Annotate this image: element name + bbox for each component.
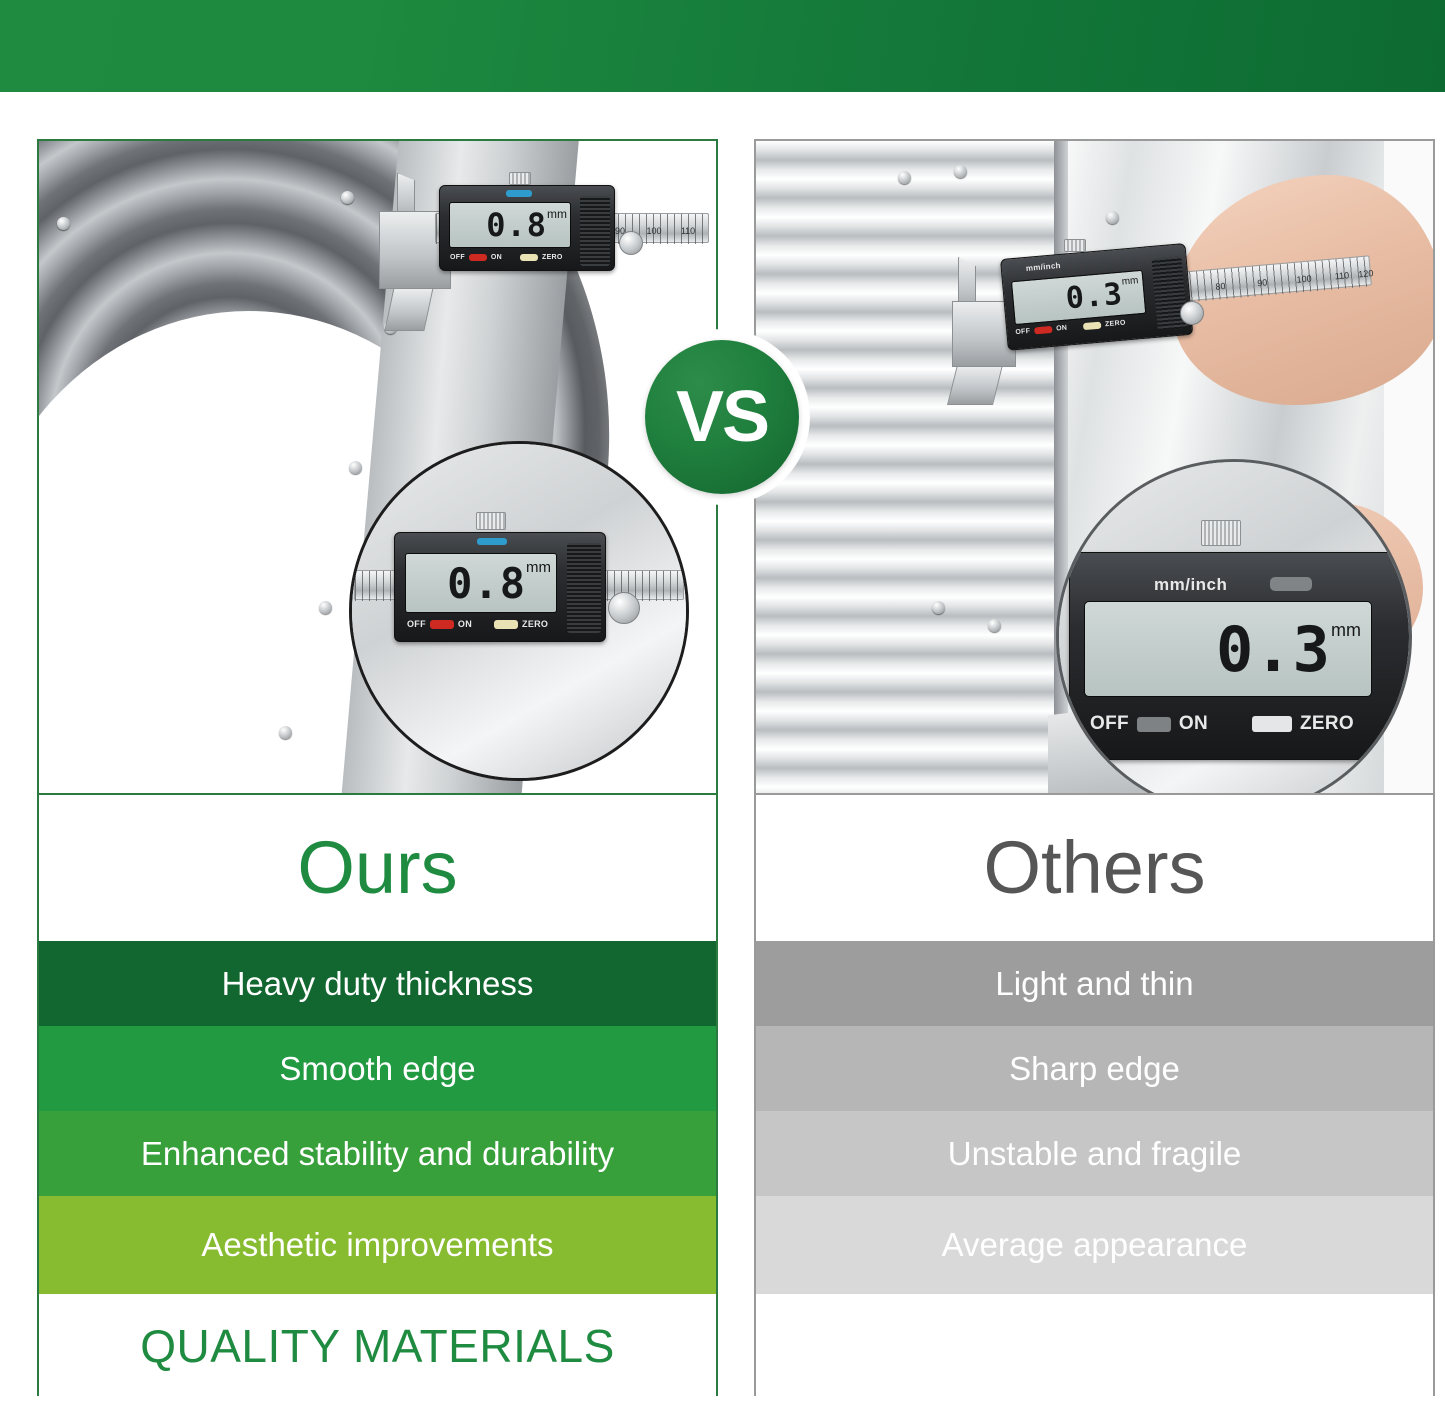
- inset-mode-label: mm/inch: [1154, 575, 1227, 595]
- others-feature-bar-3: Unstable and fragile: [756, 1111, 1433, 1196]
- comparison-infographic: 0 90 100 110 0.8 mm OFF: [0, 0, 1445, 1402]
- ours-feature-label: Heavy duty thickness: [222, 965, 534, 1003]
- top-banner: [0, 0, 1445, 92]
- others-feature-label: Unstable and fragile: [948, 1135, 1242, 1173]
- ours-footer-block: QUALITY MATERIALS: [39, 1294, 716, 1398]
- ruler-tick-label: 110: [681, 226, 695, 236]
- bolt-icon: [898, 171, 911, 184]
- bolt-icon: [954, 165, 967, 178]
- inset-caliper-button-row: OFF ON ZERO: [407, 619, 548, 629]
- inset-caliper-housing: 0.8 mm OFF ON ZERO: [394, 532, 606, 642]
- ruler-tick-label: 80: [1215, 281, 1226, 292]
- inset-power-switch[interactable]: [430, 620, 454, 629]
- caliper-mode-label: mm/inch: [1026, 261, 1062, 273]
- ours-feature-label: Enhanced stability and durability: [141, 1135, 614, 1173]
- others-digital-caliper: 70 80 90 100 110 120 mm/inch 0.3 mm: [952, 253, 1372, 403]
- caliper-display-housing: mm/inch 0.3 mm OFF ON ZERO: [1000, 243, 1193, 351]
- ours-feature-bar-1: Heavy duty thickness: [39, 941, 716, 1026]
- ours-feature-bar-3: Enhanced stability and durability: [39, 1111, 716, 1196]
- vs-label: VS: [676, 381, 768, 453]
- bolt-icon: [319, 601, 332, 614]
- inset-off-label: OFF: [407, 619, 426, 629]
- ruler-tick-label: 110: [1334, 270, 1349, 281]
- inset-mode-button[interactable]: [1270, 577, 1312, 591]
- inset-on-label: ON: [1179, 713, 1208, 735]
- ours-title-block: Ours: [39, 795, 716, 941]
- caliper-reading: 0.8: [486, 206, 547, 244]
- inset-on-label: ON: [458, 619, 472, 629]
- caliper-on-label: ON: [1056, 325, 1068, 333]
- inset-power-switch[interactable]: [1137, 717, 1171, 732]
- inset-caliper-unit: mm: [526, 559, 551, 576]
- ours-product-photo: 0 90 100 110 0.8 mm OFF: [39, 141, 716, 795]
- caliper-display-housing: 0.8 mm OFF ON ZERO: [439, 185, 615, 271]
- caliper-indicator-icon: [506, 190, 532, 197]
- caliper-off-label: OFF: [450, 254, 465, 261]
- bolt-icon: [279, 726, 292, 739]
- caliper-reading: 0.3: [1064, 276, 1124, 316]
- caliper-thumb-wheel[interactable]: [1180, 301, 1204, 325]
- ours-title: Ours: [297, 831, 457, 905]
- caliper-lcd-screen: 0.8 mm: [449, 202, 571, 248]
- bolt-icon: [932, 601, 945, 614]
- caliper-zero-label: ZERO: [542, 254, 563, 261]
- inset-lcd-screen: 0.8 mm: [405, 553, 557, 613]
- others-feature-bar-1: Light and thin: [756, 941, 1433, 1026]
- caliper-lower-jaw: [947, 365, 1003, 405]
- others-feature-label: Average appearance: [942, 1226, 1248, 1264]
- others-feature-bar-2: Sharp edge: [756, 1026, 1433, 1111]
- inset-caliper-reading: 0.8: [447, 559, 526, 608]
- ours-magnified-inset: 0.8 mm OFF ON ZERO: [349, 441, 689, 781]
- inset-lcd-screen: 0.3 mm: [1084, 601, 1372, 697]
- quality-materials-label: QUALITY MATERIALS: [140, 1319, 615, 1373]
- others-feature-label: Sharp edge: [1009, 1050, 1180, 1088]
- inset-caliper-housing: mm/inch 0.3 mm OFF ON ZERO: [1069, 552, 1412, 760]
- caliper-power-switch[interactable]: [469, 254, 487, 261]
- caliper-unit: mm: [547, 207, 567, 221]
- caliper-zero-label: ZERO: [1105, 319, 1126, 328]
- column-others: 70 80 90 100 110 120 mm/inch 0.3 mm: [754, 139, 1435, 1396]
- caliper-off-label: OFF: [1015, 328, 1030, 336]
- ours-feature-label: Smooth edge: [279, 1050, 475, 1088]
- bolt-icon: [57, 217, 70, 230]
- inset-zero-label: ZERO: [1300, 713, 1354, 735]
- vs-badge-circle: VS: [645, 340, 799, 494]
- others-feature-label: Light and thin: [995, 965, 1193, 1003]
- caliper-power-switch[interactable]: [1034, 326, 1053, 335]
- others-feature-bar-4: Average appearance: [756, 1196, 1433, 1294]
- others-magnified-inset: mm/inch 0.3 mm OFF ON ZERO: [1056, 459, 1412, 795]
- inset-lock-screw-icon: [476, 512, 506, 530]
- bolt-icon: [341, 191, 354, 204]
- inset-lock-screw-icon: [1201, 520, 1241, 546]
- inset-thumb-wheel[interactable]: [608, 592, 640, 624]
- others-title-block: Others: [756, 795, 1433, 941]
- column-ours: 0 90 100 110 0.8 mm OFF: [37, 139, 718, 1396]
- caliper-zero-button[interactable]: [1083, 322, 1102, 331]
- bolt-icon: [1106, 211, 1119, 224]
- inset-off-label: OFF: [1090, 713, 1129, 735]
- caliper-grip-ridges: [580, 196, 610, 266]
- caliper-on-label: ON: [491, 254, 502, 261]
- caliper-lcd-screen: 0.3 mm: [1011, 270, 1146, 325]
- ruler-tick-label: 100: [646, 226, 661, 236]
- inset-zero-button[interactable]: [494, 620, 518, 629]
- others-title: Others: [983, 831, 1205, 905]
- caliper-thumb-wheel[interactable]: [619, 231, 643, 255]
- inset-caliper-unit: mm: [1331, 620, 1361, 641]
- ours-feature-bar-4: Aesthetic improvements: [39, 1196, 716, 1294]
- inset-caliper-button-row: OFF ON ZERO: [1090, 713, 1354, 735]
- ruler-tick-label: 90: [1257, 277, 1268, 288]
- caliper-lower-jaw: [384, 287, 433, 331]
- caliper-zero-button[interactable]: [520, 254, 538, 261]
- inset-digital-caliper: mm/inch 0.3 mm OFF ON ZERO: [1056, 526, 1412, 766]
- caliper-lock-screw-icon: [1064, 239, 1086, 252]
- caliper-lock-screw-icon: [509, 172, 531, 185]
- inset-grip-ridges: [567, 543, 601, 633]
- caliper-unit: mm: [1121, 275, 1139, 287]
- inset-zero-label: ZERO: [522, 619, 548, 629]
- inset-caliper-reading: 0.3: [1216, 613, 1331, 686]
- ours-feature-label: Aesthetic improvements: [201, 1226, 553, 1264]
- inset-indicator-icon: [477, 538, 507, 545]
- inset-zero-button[interactable]: [1252, 716, 1292, 732]
- inset-digital-caliper: 0.8 mm OFF ON ZERO: [372, 522, 682, 682]
- corrugated-panel: [756, 141, 1056, 795]
- others-footer-block: [756, 1294, 1433, 1398]
- ruler-tick-label: 100: [1296, 273, 1312, 284]
- ruler-tick-label: 120: [1358, 268, 1374, 279]
- bolt-icon: [988, 619, 1001, 632]
- ours-feature-bar-2: Smooth edge: [39, 1026, 716, 1111]
- vs-badge: VS: [634, 329, 810, 505]
- others-product-photo: 70 80 90 100 110 120 mm/inch 0.3 mm: [756, 141, 1433, 795]
- caliper-button-row: OFF ON ZERO: [450, 254, 563, 261]
- ours-digital-caliper: 0 90 100 110 0.8 mm OFF: [379, 167, 709, 327]
